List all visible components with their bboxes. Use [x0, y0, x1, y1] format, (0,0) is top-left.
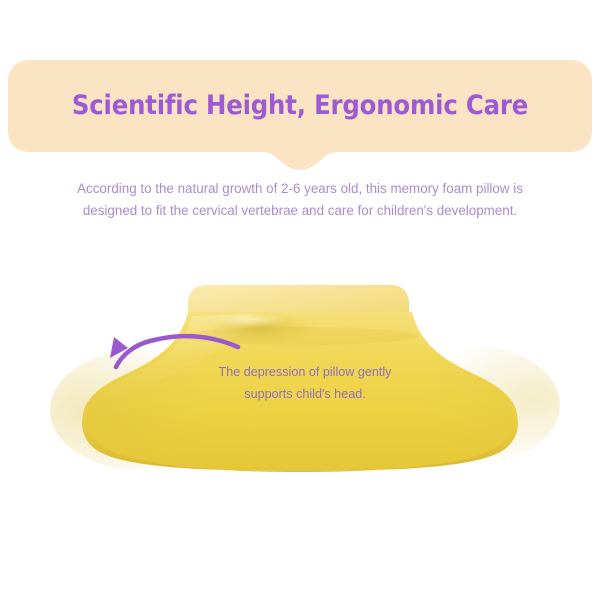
product-illustration: The depression of pillow gently supports… — [0, 250, 600, 510]
headline-banner: Scientific Height, Ergonomic Care — [0, 0, 600, 175]
subtitle-text: According to the natural growth of 2-6 y… — [40, 178, 560, 221]
subtitle-line-2: designed to fit the cervical vertebrae a… — [40, 200, 560, 222]
page-title: Scientific Height, Ergonomic Care — [31, 60, 568, 152]
subtitle-line-1: According to the natural growth of 2-6 y… — [40, 178, 560, 200]
product-feature-graphic: Scientific Height, Ergonomic Care Accord… — [0, 0, 600, 600]
pillow-image — [0, 250, 600, 510]
annotation-arrow-icon — [90, 290, 250, 370]
